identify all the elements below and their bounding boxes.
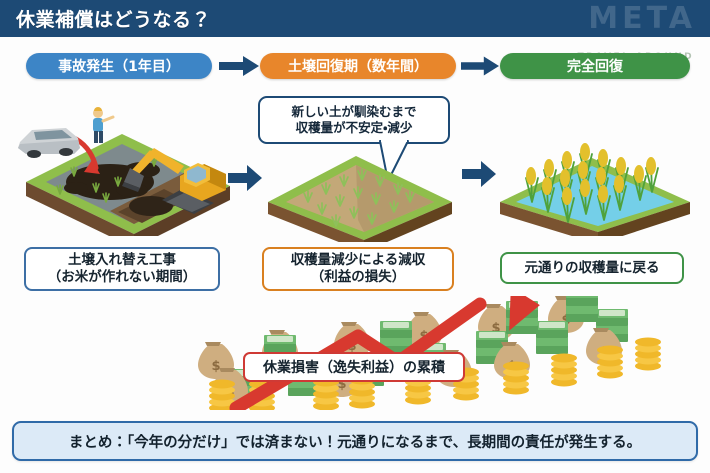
header-bar: 休業補償はどうなる？ META — [0, 0, 710, 37]
flow-arrow-icon-4 — [462, 161, 496, 187]
callout-line-1: 新しい土が馴染むまで — [264, 104, 444, 120]
caption-full-recovery: 元通りの収穫量に戻る — [500, 252, 684, 284]
money-label-box: 休業損害（逸失利益）の累積 — [243, 352, 465, 382]
flow-arrow-icon-1 — [219, 56, 259, 76]
flow-arrow-icon-3 — [228, 165, 262, 191]
stage-pill-full-recovery[interactable]: 完全回復 — [500, 53, 690, 79]
stage-pill-full-recovery-label: 完全回復 — [567, 56, 623, 76]
stage-pill-recovery-label: 土壌回復期（数年間） — [288, 56, 428, 76]
caption-yield-loss-line-2: （利益の損失） — [311, 269, 406, 286]
recovering-paddy-illustration — [262, 144, 458, 242]
caption-full-recovery-line-1: 元通りの収穫量に戻る — [525, 260, 660, 277]
stage-pill-accident-label: 事故発生（1年目） — [58, 56, 180, 76]
caption-soil-replacement: 土壌入れ替え工事 （お米が作れない期間） — [24, 247, 220, 291]
person-icon — [93, 107, 113, 143]
healthy-rice-paddy-illustration — [492, 128, 702, 236]
stage-pill-accident[interactable]: 事故発生（1年目） — [26, 53, 212, 79]
callout-bubble: 新しい土が馴染むまで 収穫量が不安定・減少 — [258, 96, 450, 144]
caption-soil-replacement-line-2: （お米が作れない期間） — [48, 269, 197, 286]
infographic-canvas: 休業補償はどうなる？ META TRAVEL AROUND 事故発生（1年目） … — [0, 0, 710, 473]
money-label-text: 休業損害（逸失利益）の累積 — [263, 357, 445, 377]
caption-soil-replacement-line-1: 土壌入れ替え工事 — [68, 252, 176, 269]
flow-arrow-icon-2 — [461, 56, 499, 76]
page-title: 休業補償はどうなる？ — [16, 5, 211, 32]
callout-line-2: 収穫量が不安定・減少 — [264, 120, 444, 136]
damaged-paddy-excavator-illustration — [14, 104, 246, 236]
watermark-logo: META — [588, 4, 696, 34]
caption-yield-loss: 収穫量減少による減収 （利益の損失） — [262, 247, 454, 291]
stage-pill-recovery[interactable]: 土壌回復期（数年間） — [260, 53, 456, 79]
summary-text: まとめ：「今年の分だけ」では済まない！元通りになるまで、長期間の責任が発生する。 — [69, 431, 641, 452]
summary-bar: まとめ：「今年の分だけ」では済まない！元通りになるまで、長期間の責任が発生する。 — [12, 421, 698, 461]
car-icon — [18, 128, 80, 158]
caption-yield-loss-line-1: 収穫量減少による減収 — [291, 252, 426, 269]
